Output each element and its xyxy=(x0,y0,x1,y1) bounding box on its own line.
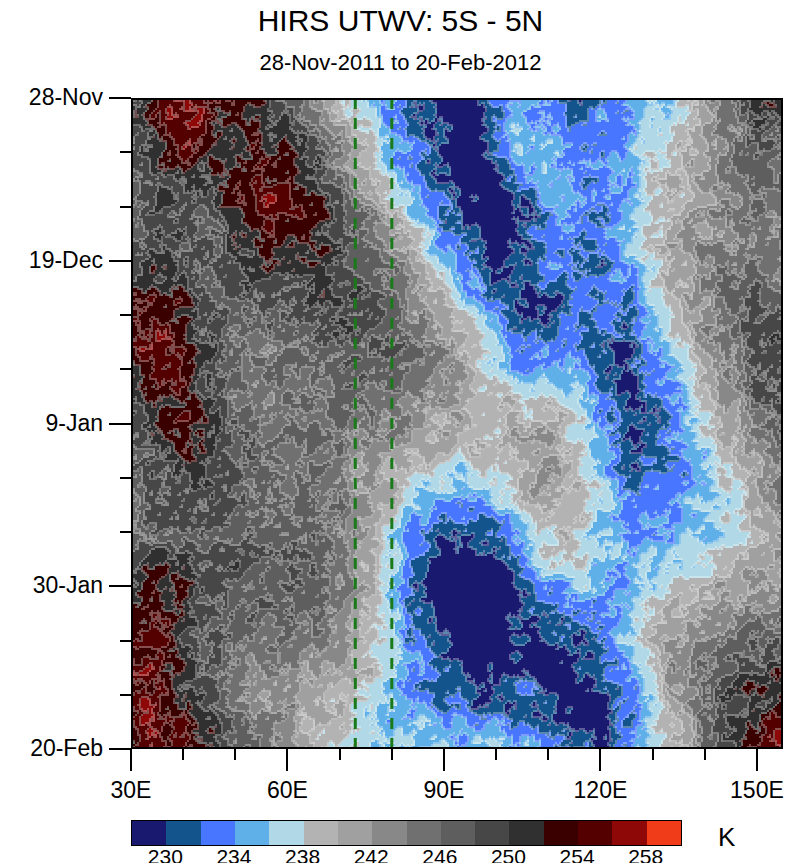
chart-subtitle: 28-Nov-2011 to 20-Feb-2012 xyxy=(0,50,801,76)
x-axis-minor-tick xyxy=(495,749,497,760)
colorbar-swatch-gray-3 xyxy=(407,821,441,845)
y-axis-label: 9-Jan xyxy=(0,410,103,437)
colorbar-tick-label: 258 xyxy=(606,845,686,863)
x-axis-minor-tick xyxy=(652,749,654,760)
x-axis-label: 90E xyxy=(384,777,504,804)
y-axis-label: 19-Dec xyxy=(0,247,103,274)
y-axis-major-tick xyxy=(109,97,131,99)
y-axis-major-tick xyxy=(109,748,131,750)
x-axis-major-tick xyxy=(599,749,601,771)
colorbar-swatch-dark-gray-1 xyxy=(475,821,509,845)
x-axis-minor-tick xyxy=(704,749,706,760)
colorbar-swatch-royal-blue xyxy=(201,821,235,845)
colorbar-swatch-dark-gray-2 xyxy=(509,821,543,845)
colorbar-swatch-midnight-blue xyxy=(132,821,166,845)
x-axis-major-tick xyxy=(286,749,288,771)
x-axis-minor-tick xyxy=(547,749,549,760)
y-axis-label: 20-Feb xyxy=(0,735,103,762)
y-axis-minor-tick xyxy=(120,477,131,479)
y-axis-major-tick xyxy=(109,423,131,425)
contour-field xyxy=(131,98,783,749)
colorbar-swatch-gray-4 xyxy=(441,821,475,845)
colorbar-swatch-sky-blue xyxy=(235,821,269,845)
hovmoller-plot-area xyxy=(131,98,783,749)
y-axis-minor-tick xyxy=(120,368,131,370)
page-title: HIRS UTWV: 5S - 5N xyxy=(0,4,801,38)
x-axis-minor-tick xyxy=(391,749,393,760)
x-axis-label: 60E xyxy=(227,777,347,804)
colorbar-swatch-dark-teal-blue xyxy=(166,821,200,845)
y-axis-minor-tick xyxy=(120,151,131,153)
y-axis-label: 28-Nov xyxy=(0,84,103,111)
y-axis-minor-tick xyxy=(120,531,131,533)
x-axis-minor-tick xyxy=(339,749,341,760)
x-axis-label: 30E xyxy=(71,777,191,804)
x-axis-minor-tick xyxy=(234,749,236,760)
x-axis-major-tick xyxy=(443,749,445,771)
colorbar-swatch-gray-1 xyxy=(338,821,372,845)
colorbar-swatch-orange-red xyxy=(647,821,681,845)
x-axis-major-tick xyxy=(756,749,758,771)
y-axis-major-tick xyxy=(109,585,131,587)
y-axis-minor-tick xyxy=(120,314,131,316)
colorbar-swatch-very-dark-red xyxy=(544,821,578,845)
colorbar-swatch-gray-2 xyxy=(372,821,406,845)
colorbar-swatch-light-gray xyxy=(304,821,338,845)
x-axis-minor-tick xyxy=(182,749,184,760)
y-axis-minor-tick xyxy=(120,640,131,642)
y-axis-label: 30-Jan xyxy=(0,572,103,599)
y-axis-minor-tick xyxy=(120,694,131,696)
y-axis-major-tick xyxy=(109,260,131,262)
x-axis-label: 150E xyxy=(697,777,801,804)
colorbar-swatch-red xyxy=(612,821,646,845)
colorbar xyxy=(131,820,682,846)
colorbar-unit-label: K xyxy=(718,822,735,853)
x-axis-label: 120E xyxy=(540,777,660,804)
colorbar-swatch-pale-blue xyxy=(269,821,303,845)
colorbar-swatch-dark-red xyxy=(578,821,612,845)
x-axis-major-tick xyxy=(130,749,132,771)
y-axis-minor-tick xyxy=(120,206,131,208)
